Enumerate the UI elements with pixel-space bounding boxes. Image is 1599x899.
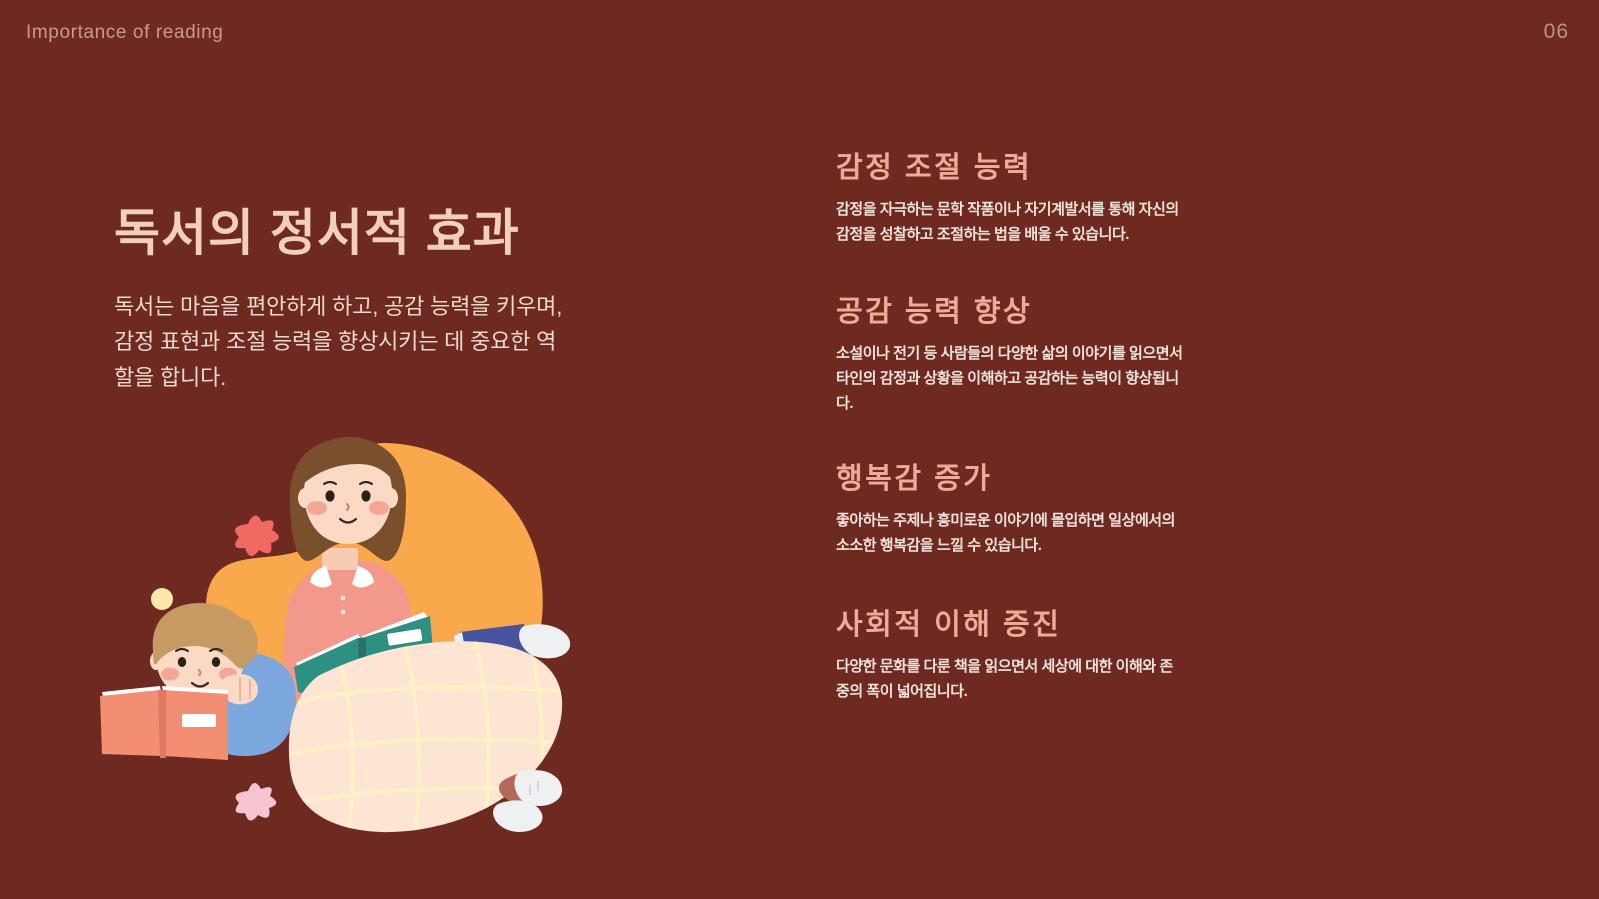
page-title: 독서의 정서적 효과 [114,205,584,263]
feature-item-4: 사회적 이해 증진 다양한 문화를 다룬 책을 읽으면서 세상에 대한 이해와 … [836,607,1196,705]
flower-pink-icon [236,783,277,821]
two-children-reading-on-moon-illustration [100,420,580,860]
feature-title-2: 공감 능력 향상 [836,294,1196,330]
feature-body-4: 다양한 문화를 다룬 책을 읽으면서 세상에 대한 이해와 존중의 폭이 넓어집… [836,655,1184,705]
slide-kicker: Importance of reading [26,22,223,44]
feature-title-3: 행복감 증가 [836,461,1196,497]
feature-item-2: 공감 능력 향상 소설이나 전기 등 사람들의 다양한 삶의 이야기를 읽으면서… [836,294,1196,417]
page-description: 독서는 마음을 편안하게 하고, 공감 능력을 키우며, 감정 표현과 조절 능… [114,289,566,396]
feature-item-1: 감정 조절 능력 감정을 자극하는 문학 작품이나 자기계발서를 통해 자신의 … [836,150,1196,248]
slide-root: Importance of reading 06 독서의 정서적 효과 독서는 … [0,0,1599,899]
flower-red-icon [235,515,279,556]
dot-yellow-icon [151,588,173,610]
feature-title-4: 사회적 이해 증진 [836,607,1196,643]
feature-body-1: 감정을 자극하는 문학 작품이나 자기계발서를 통해 자신의 감정을 성찰하고 … [836,198,1184,248]
features-list: 감정 조절 능력 감정을 자극하는 문학 작품이나 자기계발서를 통해 자신의 … [836,150,1196,705]
page-number: 06 [1544,20,1569,44]
feature-body-2: 소설이나 전기 등 사람들의 다양한 삶의 이야기를 읽으면서 타인의 감정과 … [836,342,1184,417]
coral-book [100,686,228,760]
feature-item-3: 행복감 증가 좋아하는 주제나 흥미로운 이야기에 몰입하면 일상에서의 소소한… [836,461,1196,559]
left-column: 독서의 정서적 효과 독서는 마음을 편안하게 하고, 공감 능력을 키우며, … [114,205,584,395]
feature-body-3: 좋아하는 주제나 흥미로운 이야기에 몰입하면 일상에서의 소소한 행복감을 느… [836,509,1184,559]
feature-title-1: 감정 조절 능력 [836,150,1196,186]
